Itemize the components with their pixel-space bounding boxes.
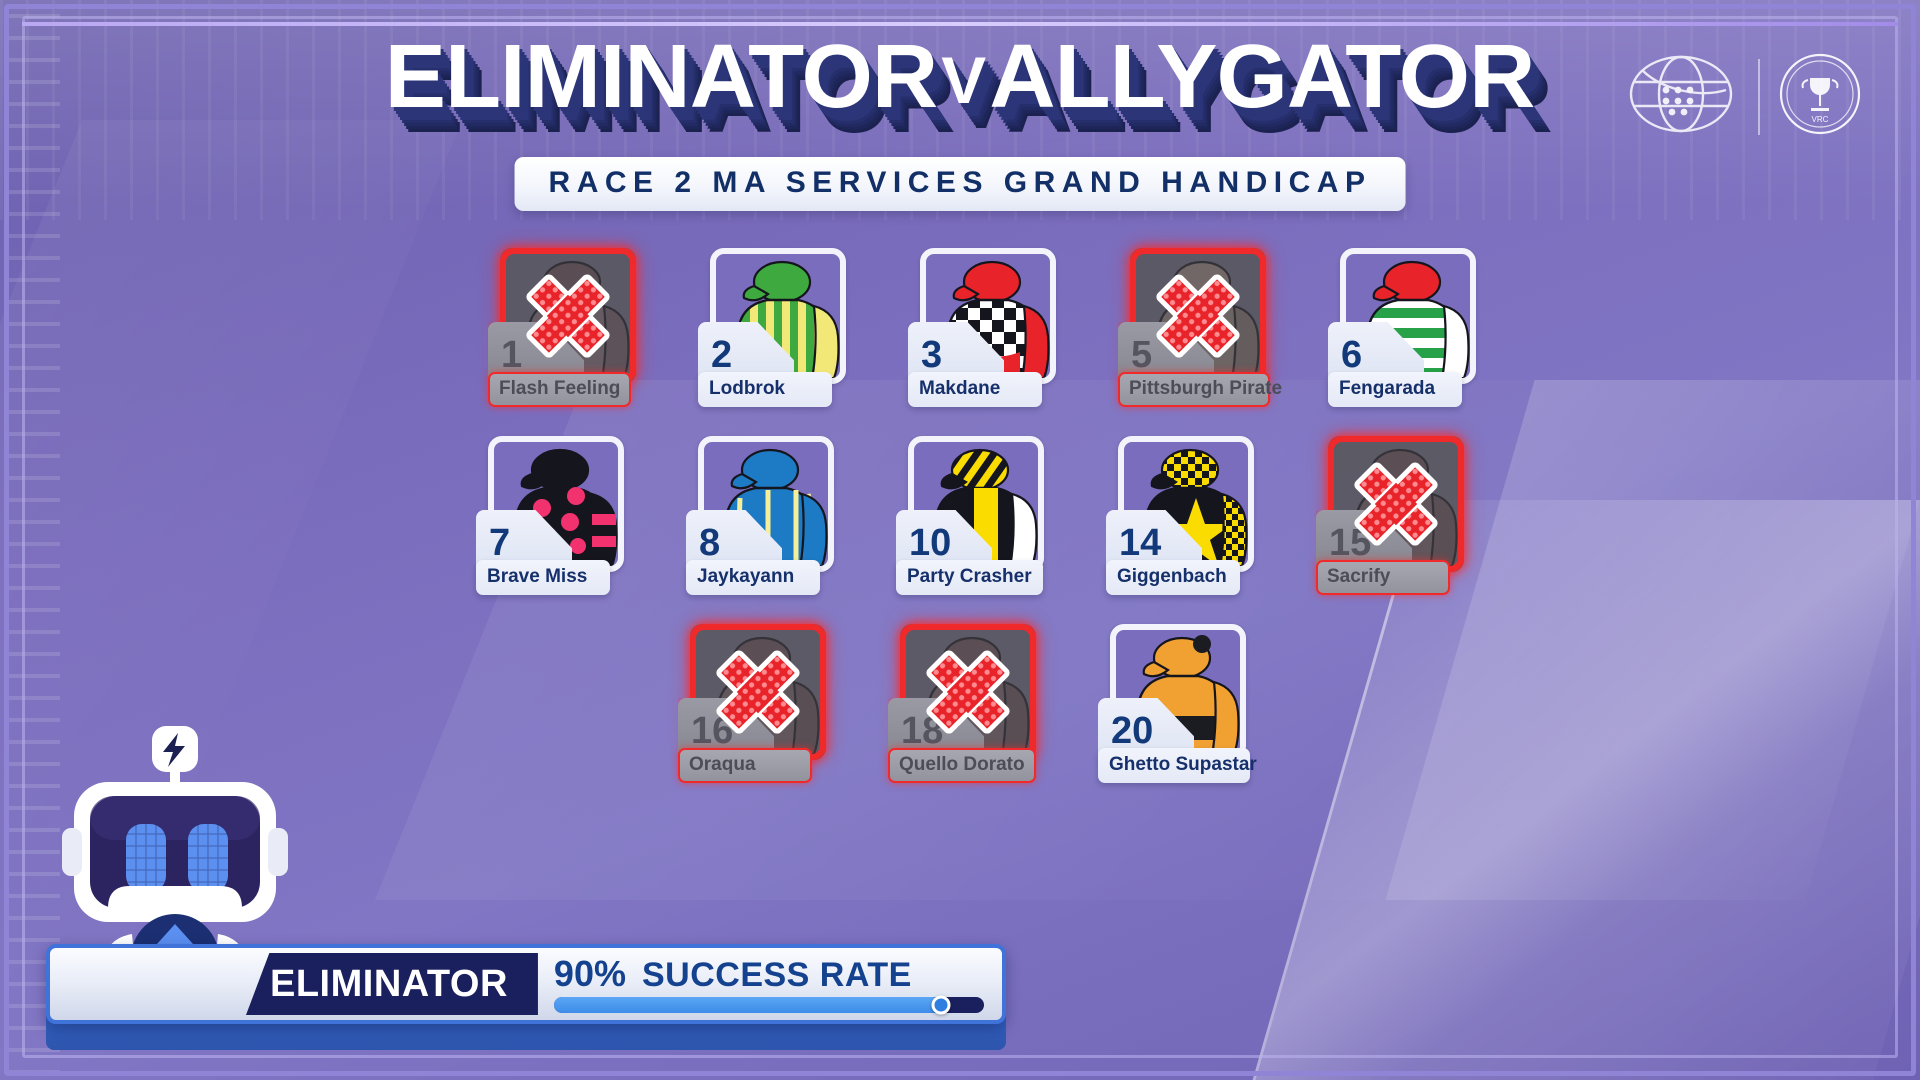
runner-card[interactable]: 6Fengarada <box>1328 248 1476 416</box>
runner-number: 5 <box>1118 336 1152 374</box>
race-banner: RACE 2 MA SERVICES GRAND HANDICAP <box>515 157 1406 211</box>
runner-number: 3 <box>908 336 942 374</box>
success-rate-block: 90% SUCCESS RATE <box>538 956 1002 1013</box>
melbourne-cup-carnival-badge-icon: VRC <box>1778 52 1862 141</box>
eliminator-badge-label: ELIMINATOR <box>270 965 508 1003</box>
runner-number: 15 <box>1316 524 1371 562</box>
runner-card[interactable]: 1Flash Feeling <box>488 248 636 416</box>
runner-name: Pittsburgh Pirate <box>1129 378 1282 399</box>
runner-name: Lodbrok <box>709 378 785 399</box>
runner-number: 2 <box>698 336 732 374</box>
runner-card[interactable]: 7Brave Miss <box>476 436 624 604</box>
runner-name-plate: Oraqua <box>678 748 812 783</box>
bar-mascot-spacer <box>50 944 258 1024</box>
runner-number: 14 <box>1106 524 1161 562</box>
runner-name-plate: Jaykayann <box>686 560 820 595</box>
runner-name: Party Crasher <box>907 566 1032 587</box>
runner-number: 6 <box>1328 336 1362 374</box>
runner-card[interactable]: 10Party Crasher <box>896 436 1044 604</box>
runner-card[interactable]: 18Quello Dorato <box>888 624 1036 792</box>
runner-name: Oraqua <box>689 754 756 775</box>
runner-name: Quello Dorato <box>899 754 1025 775</box>
runner-name-plate: Lodbrok <box>698 372 832 407</box>
progress-knob[interactable] <box>931 995 950 1014</box>
eliminator-stats-bar: ELIMINATOR 90% SUCCESS RATE <box>46 944 1006 1024</box>
runner-card[interactable]: 15Sacrify <box>1316 436 1464 604</box>
runner-name-plate: Sacrify <box>1316 560 1450 595</box>
success-rate-percent: 90% <box>554 956 626 992</box>
title-left: ELIMINATOR <box>385 27 937 127</box>
runner-name-plate: Flash Feeling <box>488 372 631 407</box>
runner-card[interactable]: 14Giggenbach <box>1106 436 1254 604</box>
runner-name-plate: Giggenbach <box>1106 560 1240 595</box>
eliminator-badge: ELIMINATOR <box>246 953 538 1015</box>
runner-name-plate: Fengarada <box>1328 372 1462 407</box>
runner-name: Giggenbach <box>1117 566 1227 587</box>
runner-name: Sacrify <box>1327 566 1390 587</box>
runner-card[interactable]: 8Jaykayann <box>686 436 834 604</box>
runner-number: 20 <box>1098 712 1153 750</box>
runner-name-plate: Pittsburgh Pirate <box>1118 372 1270 407</box>
runner-card[interactable]: 2Lodbrok <box>698 248 846 416</box>
success-rate-label: SUCCESS RATE <box>642 958 912 992</box>
race-banner-text: RACE 2 MA SERVICES GRAND HANDICAP <box>549 166 1372 200</box>
top-accent-line <box>22 22 1898 26</box>
runner-name: Flash Feeling <box>499 378 620 399</box>
runner-card[interactable]: 20Ghetto Supastar <box>1098 624 1246 792</box>
progress-fill <box>554 997 941 1013</box>
runner-card[interactable]: 5Pittsburgh Pirate <box>1118 248 1266 416</box>
runner-name-plate: Quello Dorato <box>888 748 1036 783</box>
runner-number: 8 <box>686 524 720 562</box>
runner-number: 1 <box>488 336 522 374</box>
runner-name-plate: Ghetto Supastar <box>1098 748 1250 783</box>
runner-name: Brave Miss <box>487 566 587 587</box>
runner-row: 7Brave Miss 8Jaykayann 10Party Crasher <box>0 436 1920 604</box>
runner-row: 1Flash Feeling 2Lodbrok 3Makdane <box>0 248 1920 416</box>
runner-number: 16 <box>678 712 733 750</box>
success-rate-line: 90% SUCCESS RATE <box>554 956 984 992</box>
success-rate-progress-bar[interactable] <box>554 997 984 1013</box>
title-right: ALLYGATOR <box>990 27 1535 127</box>
runner-number: 10 <box>896 524 951 562</box>
logo-divider <box>1758 59 1760 135</box>
runner-number: 18 <box>888 712 943 750</box>
broadcast-graphic-stage: ELIMINATORvALLYGATOR <box>0 0 1920 1080</box>
runner-name: Makdane <box>919 378 1000 399</box>
runner-card[interactable]: 3Makdane <box>908 248 1056 416</box>
runner-name: Jaykayann <box>697 566 794 587</box>
runner-name-plate: Brave Miss <box>476 560 610 595</box>
logo-cluster: VRC <box>1622 50 1862 143</box>
runner-card[interactable]: 16Oraqua <box>678 624 826 792</box>
runner-number: 7 <box>476 524 510 562</box>
title-separator: v <box>938 43 990 117</box>
page-title: ELIMINATORvALLYGATOR <box>385 32 1535 122</box>
runner-name-plate: Makdane <box>908 372 1042 407</box>
runner-name-plate: Party Crasher <box>896 560 1043 595</box>
runner-name: Fengarada <box>1339 378 1435 399</box>
eliminator-robot-mascot-icon <box>60 720 290 970</box>
globe-logo-icon <box>1622 50 1740 143</box>
svg-text:VRC: VRC <box>1812 115 1829 124</box>
runner-name: Ghetto Supastar <box>1109 754 1257 775</box>
